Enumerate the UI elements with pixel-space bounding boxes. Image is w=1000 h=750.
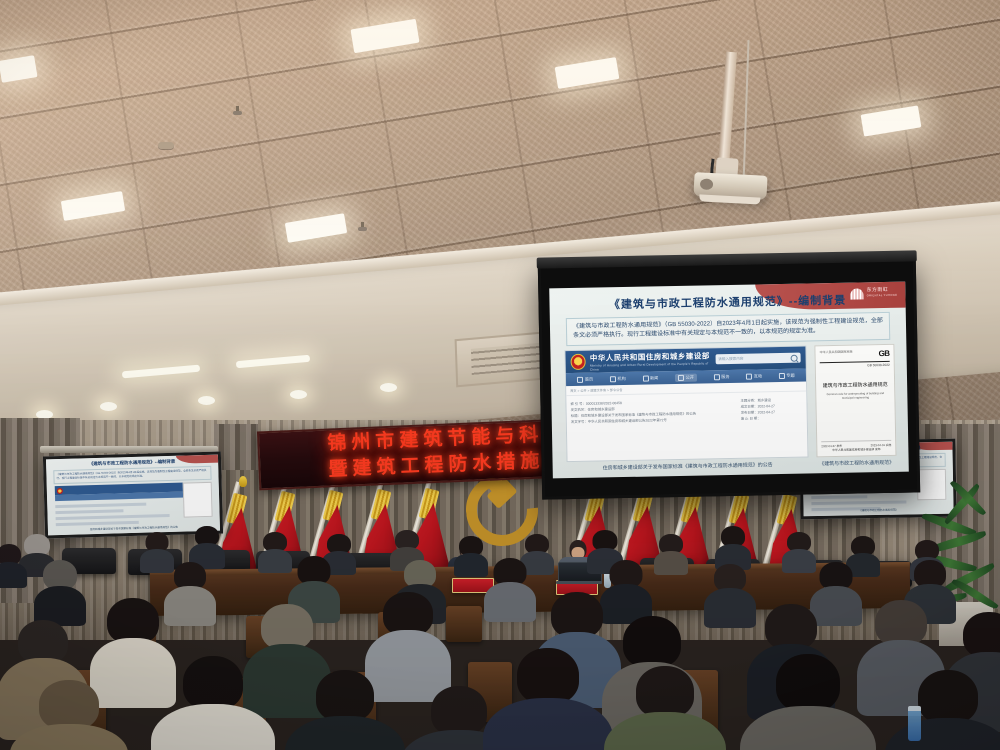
nav-item-service[interactable]: 服务: [714, 373, 730, 379]
nav-item-home[interactable]: 首页: [577, 376, 593, 382]
audience-member: [454, 536, 488, 576]
gov-website-screenshot: 中华人民共和国住房和城乡建设部 Ministry of Housing and …: [564, 346, 808, 463]
audience-member: [486, 558, 534, 618]
nav-label: 互动: [754, 373, 763, 379]
gov-document-meta: 索 引 号：000013338/2022-00458 发文机关：住房和城乡建设部…: [566, 392, 807, 462]
standard-publisher: 中华人民共和国住房和城乡建设部 发布: [821, 447, 891, 452]
sprinkler-head: [233, 106, 242, 117]
nav-label: 公开: [685, 374, 694, 380]
slide-paragraph: 《建筑与市政工程防水通用规范》（GB 55030-2022）自2023年4月1日…: [566, 312, 890, 346]
audience-member: [36, 560, 84, 620]
conference-hall-photo: 锦州市建筑节能与科 暨建筑工程防水措施 《建筑与市政工程防水通用规范》--编制背…: [0, 0, 1000, 750]
presentation-slide: 东方雨虹 ORIENTAL YUHONG 《建筑与市政工程防水通用规范》--编制…: [549, 282, 909, 479]
standard-code: GB 55030-2022: [820, 363, 890, 368]
standard-caption: 《建筑与市政工程防水通用规范》: [817, 456, 897, 470]
home-icon: [577, 376, 583, 382]
national-emblem-icon: [56, 487, 62, 493]
chat-icon: [746, 373, 752, 379]
search-icon[interactable]: [791, 354, 798, 361]
main-projection-screen: 东方雨虹 ORIENTAL YUHONG 《建筑与市政工程防水通用规范》--编制…: [538, 258, 920, 499]
standard-title-cn: 建筑与市政工程防水通用规范: [820, 381, 890, 390]
metadata-rows-mini: [55, 502, 185, 522]
downlight: [198, 396, 215, 405]
nav-item-news[interactable]: 新闻: [642, 375, 658, 381]
gov-site-header-mini: [55, 483, 185, 496]
audience-member: [258, 532, 292, 572]
standard-title-en: General code for waterproofing of buildi…: [820, 391, 890, 400]
grid-icon: [779, 372, 785, 378]
water-bottle: [908, 706, 921, 741]
nav-label: 服务: [721, 373, 730, 379]
slide-content-columns: 中华人民共和国住房和城乡建设部 Ministry of Housing and …: [564, 344, 896, 474]
meta-column-right: 主题分类：城乡建设 成文日期：2022-04-27 发布日期：2022-04-2…: [740, 397, 803, 458]
nav-label: 专题: [786, 372, 795, 378]
gov-site-name-en: Ministry of Housing and Urban-Rural Deve…: [590, 361, 712, 371]
nav-label: 机构: [617, 375, 626, 381]
slide-title: 《建筑与市政工程防水通用规范》--编制背景: [549, 291, 905, 314]
nav-item-topics[interactable]: 专题: [779, 372, 795, 378]
standard-issuer: 中华人民共和国国家标准: [820, 350, 853, 355]
downlight: [100, 402, 117, 411]
audience-member: [0, 544, 26, 584]
national-emblem-icon: [570, 354, 586, 370]
audience-member: [500, 648, 596, 750]
nav-label: 新闻: [650, 375, 659, 381]
standard-cover-top: 中华人民共和国国家标准 GB: [820, 349, 890, 359]
nav-label: 首页: [585, 376, 594, 382]
user-icon: [714, 374, 720, 380]
nav-item-interaction[interactable]: 互动: [746, 373, 762, 379]
audience: [0, 520, 1000, 750]
slide-left-column: 中华人民共和国住房和城乡建设部 Ministry of Housing and …: [564, 346, 808, 475]
search-placeholder: 请输入搜索内容: [718, 356, 743, 361]
audience-member: [782, 532, 816, 572]
national-standard-cover: 中华人民共和国国家标准 GB GB 55030-2022 建筑与市政工程防水通用…: [814, 344, 896, 458]
meta-row: 废 止 日 期：: [741, 415, 803, 422]
audience-member: [620, 666, 710, 750]
audience-member: [706, 564, 754, 624]
news-icon: [642, 375, 648, 381]
gb-mark: GB: [878, 349, 889, 358]
nav-item-organization[interactable]: 机构: [610, 375, 626, 381]
theater-seat: [446, 606, 482, 642]
slide-right-column: 中华人民共和国国家标准 GB GB 55030-2022 建筑与市政工程防水通用…: [814, 344, 896, 470]
projector-lens-icon: [700, 178, 714, 190]
audience-member: [654, 534, 688, 574]
meta-column-left: 索 引 号：000013338/2022-00458 发文机关：住房和城乡建设部…: [570, 398, 735, 461]
building-icon: [610, 376, 616, 382]
ceiling-projector: [693, 172, 767, 200]
audience-member: [166, 562, 214, 622]
nav-item-disclosure[interactable]: 公开: [675, 373, 697, 381]
smoke-detector: [158, 142, 174, 149]
downlight: [290, 390, 307, 399]
standard-document-mini: [183, 482, 213, 518]
sprinkler-head: [358, 222, 367, 233]
audience-member: [168, 656, 258, 750]
document-icon: [678, 374, 684, 380]
downlight: [380, 383, 397, 392]
audience-member: [760, 654, 856, 750]
audience-member: [24, 680, 114, 750]
audience-member: [190, 526, 224, 566]
audience-member: [716, 526, 750, 566]
search-input[interactable]: 请输入搜索内容: [715, 353, 801, 365]
audience-member: [300, 670, 390, 750]
